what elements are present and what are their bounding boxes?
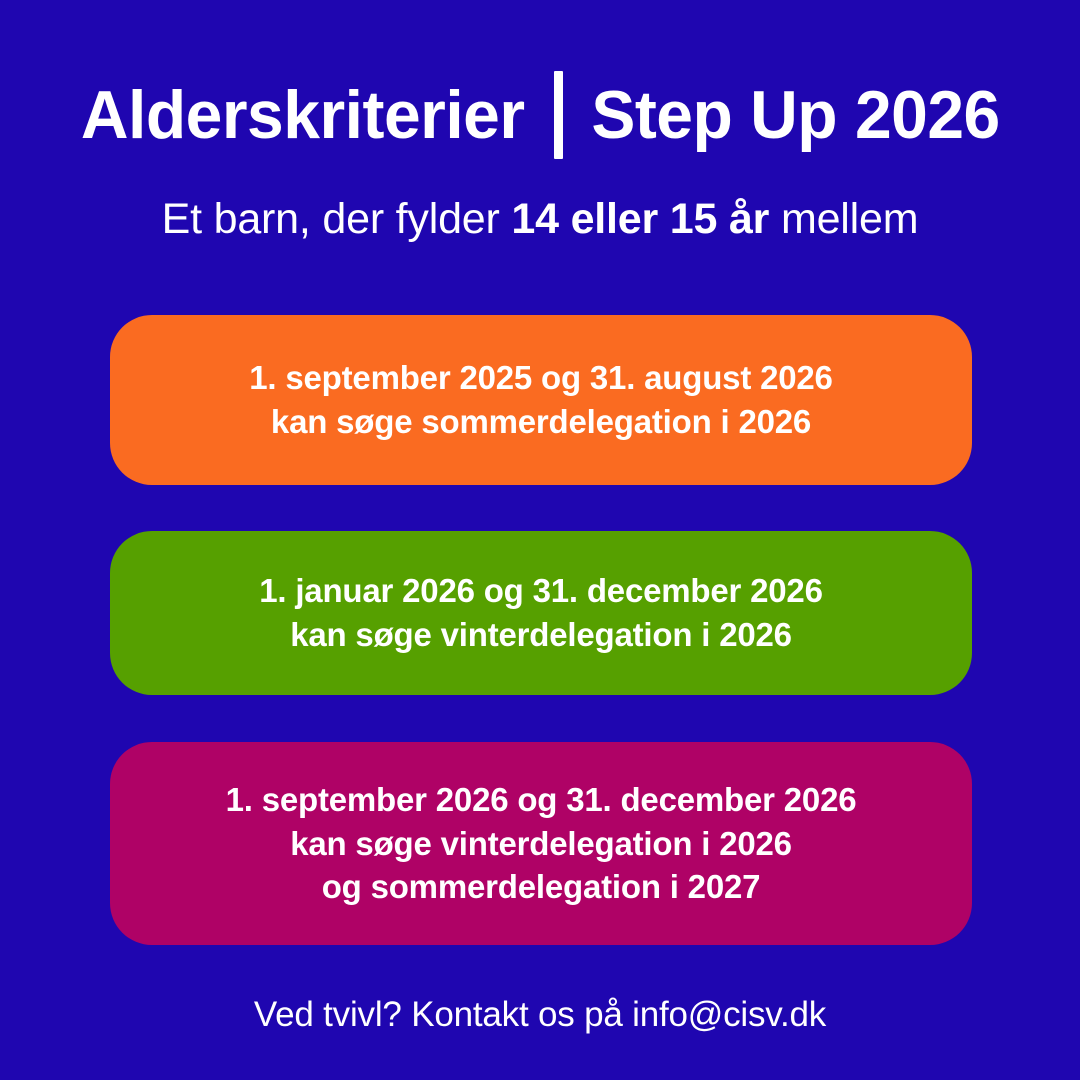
- title-left: Alderskriterier: [81, 81, 525, 149]
- subtitle-suffix: mellem: [769, 195, 918, 243]
- title-right: Step Up 2026: [591, 81, 999, 149]
- card-line: 1. september 2025 og 31. august 2026: [249, 356, 832, 400]
- footer-contact: Ved tvivl? Kontakt os på info@cisv.dk: [0, 996, 1080, 1035]
- card-line: 1. september 2026 og 31. december 2026: [226, 778, 857, 822]
- card-line: og sommerdelegation i 2027: [322, 865, 761, 909]
- criteria-card-vinter-og-sommerdelegation: 1. september 2026 og 31. december 2026 k…: [110, 742, 972, 945]
- criteria-card-list: 1. september 2025 og 31. august 2026 kan…: [110, 315, 972, 945]
- subtitle-emphasis: 14 eller 15 år: [511, 195, 769, 243]
- title-divider-icon: [554, 71, 563, 159]
- card-line: kan søge sommerdelegation i 2026: [271, 400, 811, 444]
- subtitle: Et barn, der fylder 14 eller 15 år melle…: [0, 196, 1080, 243]
- subtitle-prefix: Et barn, der fylder: [162, 195, 512, 243]
- card-line: 1. januar 2026 og 31. december 2026: [259, 569, 823, 613]
- card-line: kan søge vinterdelegation i 2026: [290, 613, 792, 657]
- poster-canvas: Alderskriterier Step Up 2026 Et barn, de…: [0, 0, 1080, 1080]
- criteria-card-vinterdelegation-2026: 1. januar 2026 og 31. december 2026 kan …: [110, 531, 972, 695]
- card-line: kan søge vinterdelegation i 2026: [290, 822, 792, 866]
- page-title: Alderskriterier Step Up 2026: [0, 72, 1080, 158]
- criteria-card-sommerdelegation-2026: 1. september 2025 og 31. august 2026 kan…: [110, 315, 972, 485]
